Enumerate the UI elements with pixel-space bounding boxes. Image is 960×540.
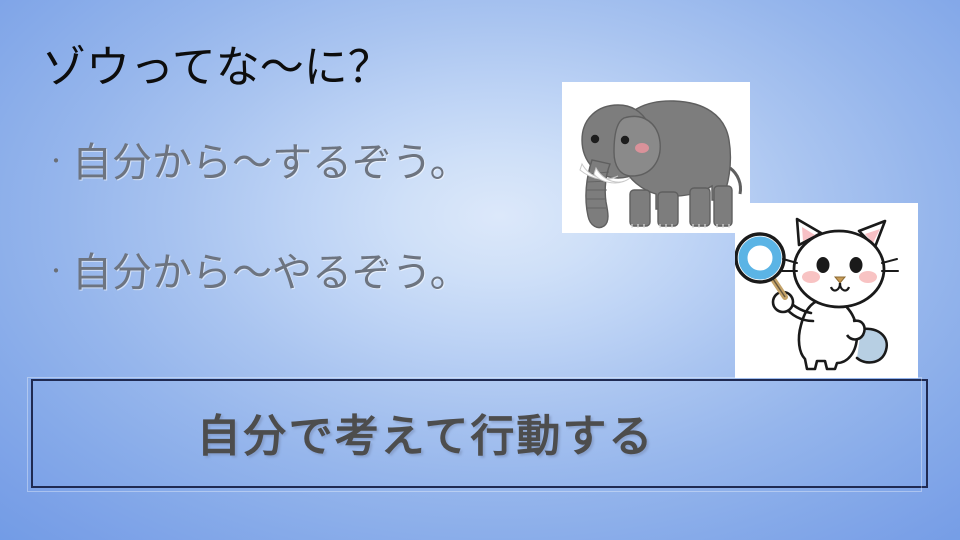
- cat-with-magnifier-illustration-icon: [735, 203, 918, 378]
- elephant-image: [562, 82, 750, 233]
- emphasis-text: 自分で考えて行動する: [197, 400, 655, 464]
- elephant-illustration-icon: [562, 82, 750, 233]
- slide-canvas: ゾウってな〜に？ ・ 自分から〜するぞう。 ・ 自分から〜やるぞう。 自分で考え…: [0, 0, 960, 540]
- page-title: ゾウってな〜に？: [42, 44, 392, 92]
- cat-image: [735, 203, 918, 378]
- list-item: ・ 自分から〜やるぞう。: [46, 252, 606, 362]
- list-item: ・ 自分から〜するぞう。: [46, 142, 606, 252]
- bullet-list: ・ 自分から〜するぞう。 ・ 自分から〜やるぞう。: [46, 142, 606, 362]
- bullet-text: 自分から〜やるぞう。: [72, 252, 470, 294]
- bullet-marker-icon: ・: [46, 261, 72, 281]
- bullet-marker-icon: ・: [46, 151, 72, 171]
- emphasis-box: 自分で考えて行動する: [31, 379, 928, 488]
- bullet-text: 自分から〜するぞう。: [72, 142, 470, 184]
